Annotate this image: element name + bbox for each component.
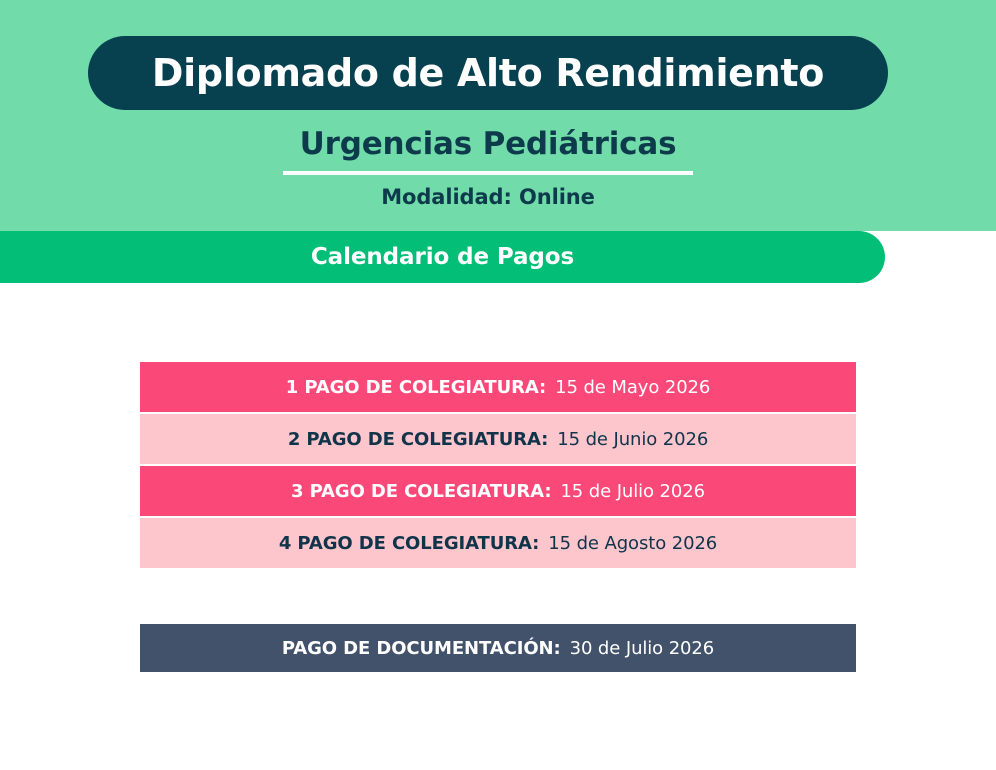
documentation-date: 30 de Julio 2026 — [570, 638, 715, 659]
payment-label: 1 PAGO DE COLEGIATURA: — [286, 377, 546, 398]
page-title: Diplomado de Alto Rendimiento — [152, 51, 824, 95]
modality-label: Modalidad: Online — [0, 185, 976, 209]
list-item: 2 PAGO DE COLEGIATURA: 15 de Junio 2026 — [140, 414, 856, 464]
payment-date: 15 de Mayo 2026 — [555, 377, 710, 398]
specialty-subtitle: Urgencias Pediátricas — [0, 126, 976, 162]
program-title-pill: Diplomado de Alto Rendimiento — [88, 36, 888, 110]
payment-date: 15 de Junio 2026 — [557, 429, 708, 450]
payment-schedule-list: 1 PAGO DE COLEGIATURA: 15 de Mayo 2026 2… — [140, 362, 856, 570]
payment-calendar-banner-label: Calendario de Pagos — [0, 231, 885, 283]
list-item: 4 PAGO DE COLEGIATURA: 15 de Agosto 2026 — [140, 518, 856, 568]
documentation-label: PAGO DE DOCUMENTACIÓN: — [282, 638, 561, 659]
payment-label: 3 PAGO DE COLEGIATURA: — [291, 481, 551, 502]
payment-calendar-banner: Calendario de Pagos — [0, 231, 885, 283]
subtitle-divider — [283, 171, 693, 175]
list-item: 3 PAGO DE COLEGIATURA: 15 de Julio 2026 — [140, 466, 856, 516]
header-banner: Diplomado de Alto Rendimiento Urgencias … — [0, 0, 996, 231]
payment-date: 15 de Julio 2026 — [560, 481, 705, 502]
list-item: 1 PAGO DE COLEGIATURA: 15 de Mayo 2026 — [140, 362, 856, 412]
payment-label: 4 PAGO DE COLEGIATURA: — [279, 533, 539, 554]
payment-date: 15 de Agosto 2026 — [548, 533, 717, 554]
documentation-payment-row: PAGO DE DOCUMENTACIÓN: 30 de Julio 2026 — [140, 624, 856, 672]
payment-label: 2 PAGO DE COLEGIATURA: — [288, 429, 548, 450]
